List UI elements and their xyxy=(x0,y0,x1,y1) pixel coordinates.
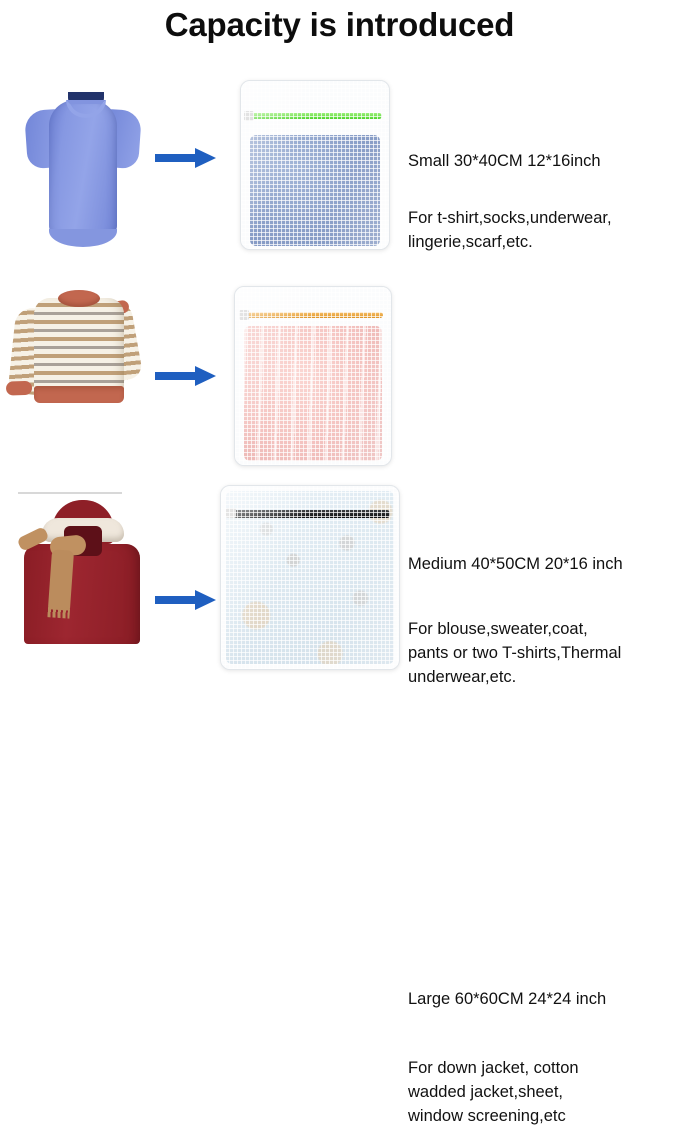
t-shirt-icon xyxy=(24,92,140,242)
jacket-body xyxy=(24,544,140,644)
garment-illustration-down-jacket xyxy=(8,480,156,676)
size-label-large: Large 60*60CM 24*24 inch xyxy=(408,988,679,1010)
size-label-small: Small 30*40CM 12*16inch xyxy=(408,150,679,172)
garment-illustration-sweater xyxy=(8,268,156,473)
bag-content-pink-garment xyxy=(244,326,381,461)
striped-sweater-icon xyxy=(12,286,152,408)
scarf-tail xyxy=(48,549,74,610)
capacity-row-small: Small 30*40CM 12*16inch For t-shirt,sock… xyxy=(0,62,679,262)
mesh-bag-body xyxy=(220,485,400,670)
capacity-text-small: Small 30*40CM 12*16inch For t-shirt,sock… xyxy=(408,150,679,254)
mesh-bag-body xyxy=(234,286,392,466)
usage-description-large: For down jacket, cotton wadded jacket,sh… xyxy=(408,1056,679,1128)
usage-description-small: For t-shirt,socks,underwear, lingerie,sc… xyxy=(408,206,679,254)
bag-zipper-green xyxy=(248,113,381,119)
sweater-collar xyxy=(58,290,100,307)
mesh-bag-body xyxy=(240,80,390,250)
mesh-bag-small xyxy=(240,80,390,250)
mesh-bag-medium xyxy=(234,286,392,466)
illustration-top-rule xyxy=(18,492,122,494)
arrow-right-icon xyxy=(155,146,217,170)
bag-content-blue-garment xyxy=(250,135,380,246)
garment-illustration-t-shirt xyxy=(8,62,156,262)
capacity-row-medium: Medium 40*50CM 20*16 inch For blouse,swe… xyxy=(0,268,679,473)
page-title: Capacity is introduced xyxy=(0,2,679,48)
arrow-right-icon xyxy=(155,364,217,388)
t-shirt-body xyxy=(49,100,117,242)
bag-zipper-black xyxy=(230,510,390,518)
capacity-text-large: Large 60*60CM 24*24 inch For down jacket… xyxy=(408,988,679,1128)
bag-zipper-orange xyxy=(243,312,383,318)
mesh-bag-large xyxy=(220,485,400,670)
down-jacket-icon xyxy=(14,492,150,652)
sweater-hem xyxy=(34,386,124,403)
arrow-right-icon xyxy=(155,588,217,612)
capacity-row-large: Large 60*60CM 24*24 inch For down jacket… xyxy=(0,480,679,676)
